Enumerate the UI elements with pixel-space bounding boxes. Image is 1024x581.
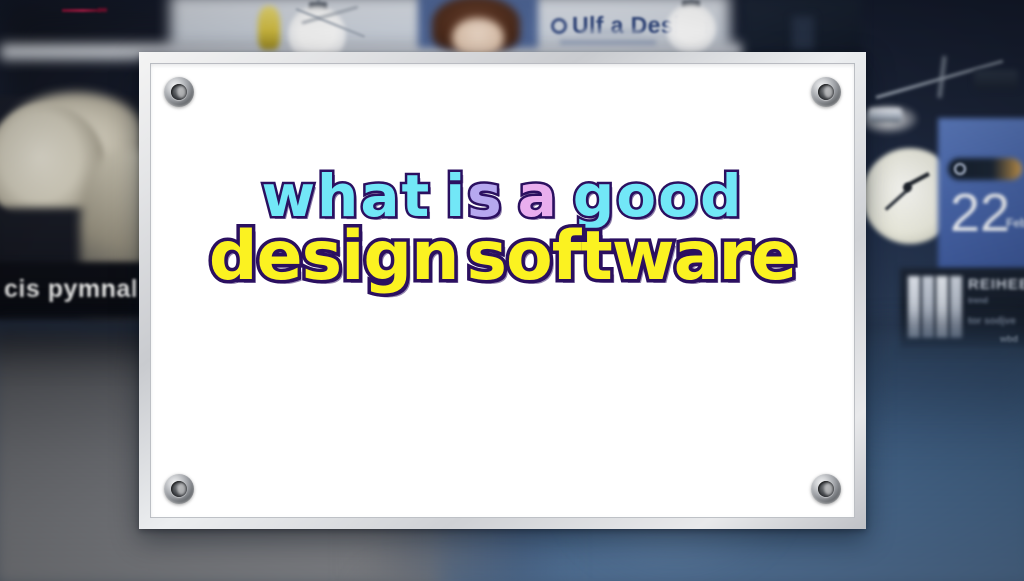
red-accent-dash-icon (98, 8, 107, 12)
screw-top-left-icon (164, 77, 194, 107)
ceiling-fixture-box (974, 70, 1018, 90)
circle-logo-icon (551, 18, 567, 34)
slide-stage: cis pymnal Ulf a Desicn (0, 0, 1024, 581)
pendant-lamp-right-bulb (666, 4, 716, 54)
red-accent-line-icon (62, 9, 100, 12)
headline-block: whatisagood designsoftware (150, 167, 855, 292)
screw-top-right-icon (811, 77, 841, 107)
signage-number: 22 (950, 186, 1010, 240)
screw-bottom-left-icon (164, 474, 194, 504)
signage-info-icon (954, 163, 966, 175)
banner-logo-underline2 (580, 30, 642, 34)
right-panel-title: REIHEE (968, 276, 1024, 293)
whiteboard-surface[interactable]: whatisagood designsoftware (150, 63, 855, 518)
dark-shelving-detail (792, 16, 814, 50)
screw-bottom-right-icon (811, 474, 841, 504)
right-panel-subtitle: trend (968, 296, 988, 305)
poster-caption-text: cis pymnal (4, 275, 154, 304)
headline-word-design: design (209, 222, 459, 291)
banner-logo-underline (560, 40, 656, 45)
yellow-bottle-object (258, 6, 280, 50)
track-light-head (868, 108, 902, 123)
clock-center-pin (903, 183, 912, 192)
right-wall-column (864, 330, 1024, 450)
signage-number-suffix: Feb (1006, 216, 1024, 230)
headline-word-software: software (467, 222, 797, 291)
headline-line-2: designsoftware (150, 222, 855, 291)
whiteboard-frame[interactable]: whatisagood designsoftware (139, 52, 866, 529)
